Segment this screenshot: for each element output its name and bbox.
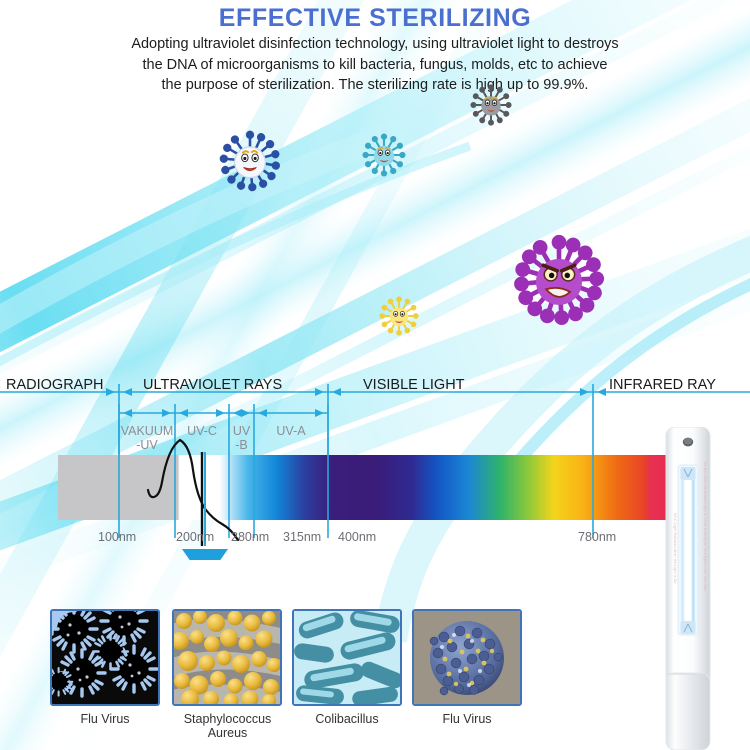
subband-label-uv-c: UV-C <box>175 424 229 438</box>
subband-label-vakuum-uv: VAKUUM -UV <box>119 424 175 452</box>
flu-virus-image-2 <box>414 611 520 704</box>
subband-vakuum-line1: VAKUUM <box>121 424 174 438</box>
sample-card-2[interactable] <box>172 609 282 706</box>
germ-character-yellow <box>378 295 420 337</box>
subband-uvb-line2: -B <box>235 438 248 452</box>
page-title: EFFECTIVE STERILIZING <box>0 4 750 33</box>
germ-character-teal <box>361 132 407 178</box>
colibacillus-image <box>294 611 400 704</box>
germ-character-grey <box>469 83 513 127</box>
subband-label-uv-a: UV-A <box>254 424 328 438</box>
caption-1-line1: Flu Virus <box>80 712 129 726</box>
band-label-ultraviolet-rays: ULTRAVIOLET RAYS <box>143 377 282 393</box>
description-line-2: the DNA of microorganisms to kill bacter… <box>55 55 695 76</box>
caption-3-line1: Colibacillus <box>315 712 378 726</box>
band-label-radiograph: RADIOGRAPH <box>6 377 104 393</box>
sample-card-4[interactable] <box>412 609 522 706</box>
germ-character-blue <box>218 129 282 193</box>
tick-label-780nm: 780nm <box>578 530 616 544</box>
caption-2-line2: Aureus <box>208 726 248 740</box>
description-line-3: the purpose of sterilization. The steril… <box>55 75 695 96</box>
subband-vakuum-line2: -UV <box>136 438 158 452</box>
tick-label-100nm: 100nm <box>98 530 136 544</box>
caption-4-line1: Flu Virus <box>442 712 491 726</box>
sample-card-1[interactable] <box>50 609 160 706</box>
flu-virus-image-1 <box>52 611 158 704</box>
sample-caption-4: Flu Virus <box>412 712 522 726</box>
product-warning-text: Do Not Allow Ultraviolet Light to Shine … <box>703 462 707 612</box>
band-label-infrared-ray: INFRARED RAY <box>609 377 716 393</box>
band-label-visible-light: VISIBLE LIGHT <box>363 377 465 393</box>
germ-character-purple <box>513 234 605 326</box>
sample-card-3[interactable] <box>292 609 402 706</box>
subband-uva-line1: UV-A <box>276 424 305 438</box>
tick-label-200nm: 200nm <box>176 530 214 544</box>
product-side-text: UV-C Light Radiated when the Light is On <box>673 513 677 609</box>
infographic-canvas: EFFECTIVE STERILIZING Adopting ultraviol… <box>0 0 750 750</box>
subband-uvc-line1: UV-C <box>187 424 217 438</box>
subband-uvb-line1: UV <box>233 424 250 438</box>
caption-2-line1: Staphylococcus <box>184 712 272 726</box>
subband-label-uv-b: UV -B <box>229 424 254 452</box>
sample-caption-1: Flu Virus <box>50 712 160 726</box>
sample-caption-2: Staphylococcus Aureus <box>160 712 295 740</box>
staphylococcus-aureus-image <box>174 611 280 704</box>
page-description: Adopting ultraviolet disinfection techno… <box>55 34 695 96</box>
description-line-1: Adopting ultraviolet disinfection techno… <box>55 34 695 55</box>
sample-caption-3: Colibacillus <box>292 712 402 726</box>
tick-label-280nm: 280nm <box>231 530 269 544</box>
tick-label-400nm: 400nm <box>338 530 376 544</box>
tick-label-315nm: 315nm <box>283 530 321 544</box>
